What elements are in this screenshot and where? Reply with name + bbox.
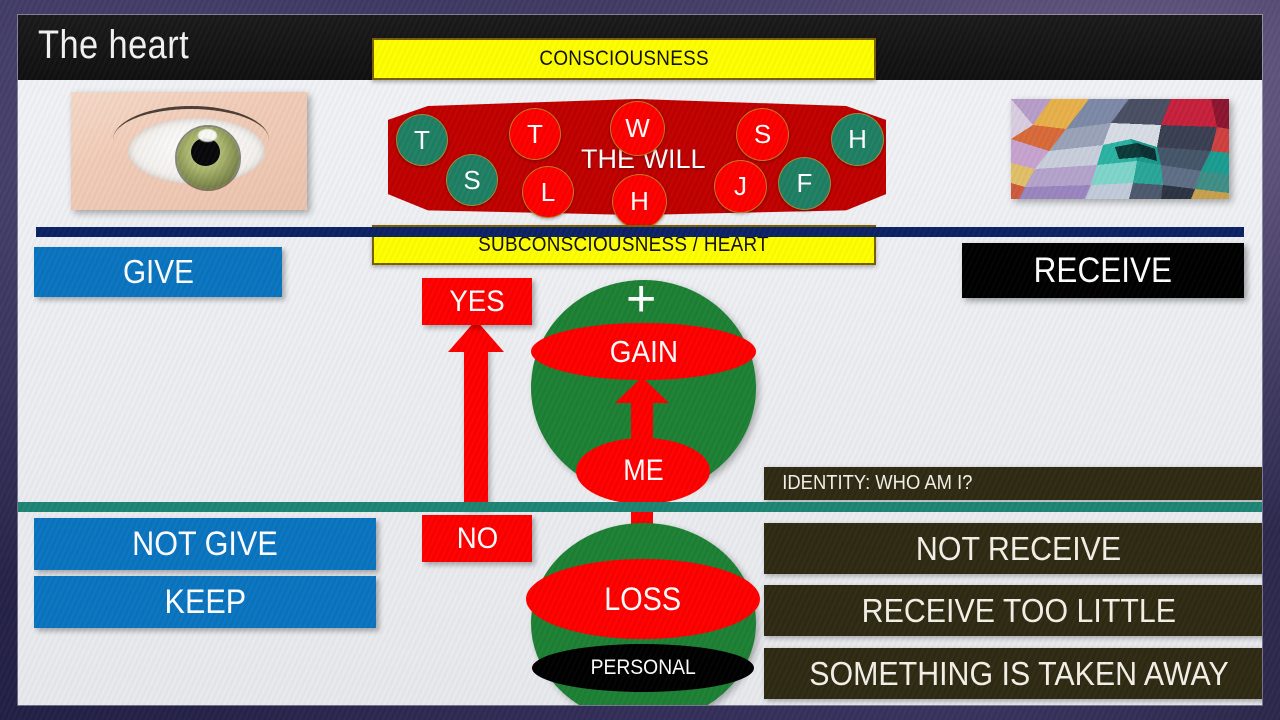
page-title: The heart <box>38 23 189 68</box>
keep-box[interactable]: KEEP <box>34 576 376 628</box>
will-circle-h-green[interactable]: H <box>831 113 884 166</box>
will-circle-label: H <box>848 124 867 155</box>
will-circle-h-red[interactable]: H <box>612 174 667 229</box>
identity-box[interactable]: IDENTITY: WHO AM I? <box>764 467 1262 500</box>
not-receive-box[interactable]: NOT RECEIVE <box>764 523 1262 574</box>
teal-divider <box>18 502 1262 512</box>
not-give-label: NOT GIVE <box>132 525 278 564</box>
right-eye-image <box>1011 99 1229 199</box>
will-circle-s-green[interactable]: S <box>446 154 498 206</box>
yes-label: YES <box>449 285 504 319</box>
personal-label: PERSONAL <box>590 656 695 680</box>
will-circle-t-red[interactable]: T <box>509 108 561 160</box>
gain-ellipse[interactable]: GAIN <box>531 323 756 380</box>
me-to-gain-arrow-shaft <box>631 397 653 443</box>
no-box[interactable]: NO <box>422 515 532 562</box>
will-circle-label: W <box>625 113 650 144</box>
give-box[interactable]: GIVE <box>34 247 282 297</box>
receive-label: RECEIVE <box>1034 251 1172 291</box>
will-circle-l-red[interactable]: L <box>522 166 574 218</box>
banner-consciousness-label: CONSCIOUSNESS <box>539 47 708 71</box>
banner-consciousness: CONSCIOUSNESS <box>372 38 876 80</box>
me-label: ME <box>623 454 664 488</box>
no-to-yes-arrow-shaft <box>464 347 488 509</box>
slide-root: The heart CONSCIOUSNESS <box>0 0 1280 720</box>
will-circle-label: S <box>463 165 480 196</box>
gain-label: GAIN <box>609 334 677 370</box>
me-ellipse[interactable]: ME <box>576 438 710 504</box>
slide-canvas: The heart CONSCIOUSNESS <box>18 15 1262 705</box>
minus-sign: – <box>630 684 659 705</box>
identity-label: IDENTITY: WHO AM I? <box>782 472 972 495</box>
will-circle-j-red[interactable]: J <box>714 160 767 213</box>
navy-divider <box>36 227 1244 237</box>
will-circle-label: H <box>630 186 649 217</box>
will-circle-w-red[interactable]: W <box>610 101 665 156</box>
loss-ellipse[interactable]: LOSS <box>526 559 760 639</box>
not-give-box[interactable]: NOT GIVE <box>34 518 376 570</box>
will-circle-t-green[interactable]: T <box>396 114 448 166</box>
plus-sign: + <box>626 273 656 325</box>
receive-too-little-label: RECEIVE TOO LITTLE <box>862 592 1176 630</box>
will-circle-label: J <box>734 171 747 202</box>
low-poly-eye-svg <box>1011 99 1229 199</box>
give-label: GIVE <box>123 253 194 291</box>
something-taken-away-label: SOMETHING IS TAKEN AWAY <box>809 655 1228 693</box>
will-circle-label: T <box>527 119 543 150</box>
left-eye-image <box>71 92 307 210</box>
will-circle-label: L <box>541 177 555 208</box>
receive-box[interactable]: RECEIVE <box>962 243 1244 298</box>
something-taken-away-box[interactable]: SOMETHING IS TAKEN AWAY <box>764 648 1262 699</box>
will-circle-label: F <box>797 168 813 199</box>
not-receive-label: NOT RECEIVE <box>916 530 1121 568</box>
will-circle-s-red[interactable]: S <box>736 108 789 161</box>
loss-label: LOSS <box>605 581 682 618</box>
will-circle-label: T <box>414 125 430 156</box>
keep-label: KEEP <box>164 583 246 622</box>
will-circle-f-green[interactable]: F <box>778 157 831 210</box>
eye-pupil <box>191 138 219 166</box>
no-label: NO <box>456 522 497 556</box>
yes-box[interactable]: YES <box>422 278 532 325</box>
receive-too-little-box[interactable]: RECEIVE TOO LITTLE <box>764 585 1262 636</box>
will-circle-label: S <box>754 119 771 150</box>
eye-upper-lid <box>113 106 269 140</box>
